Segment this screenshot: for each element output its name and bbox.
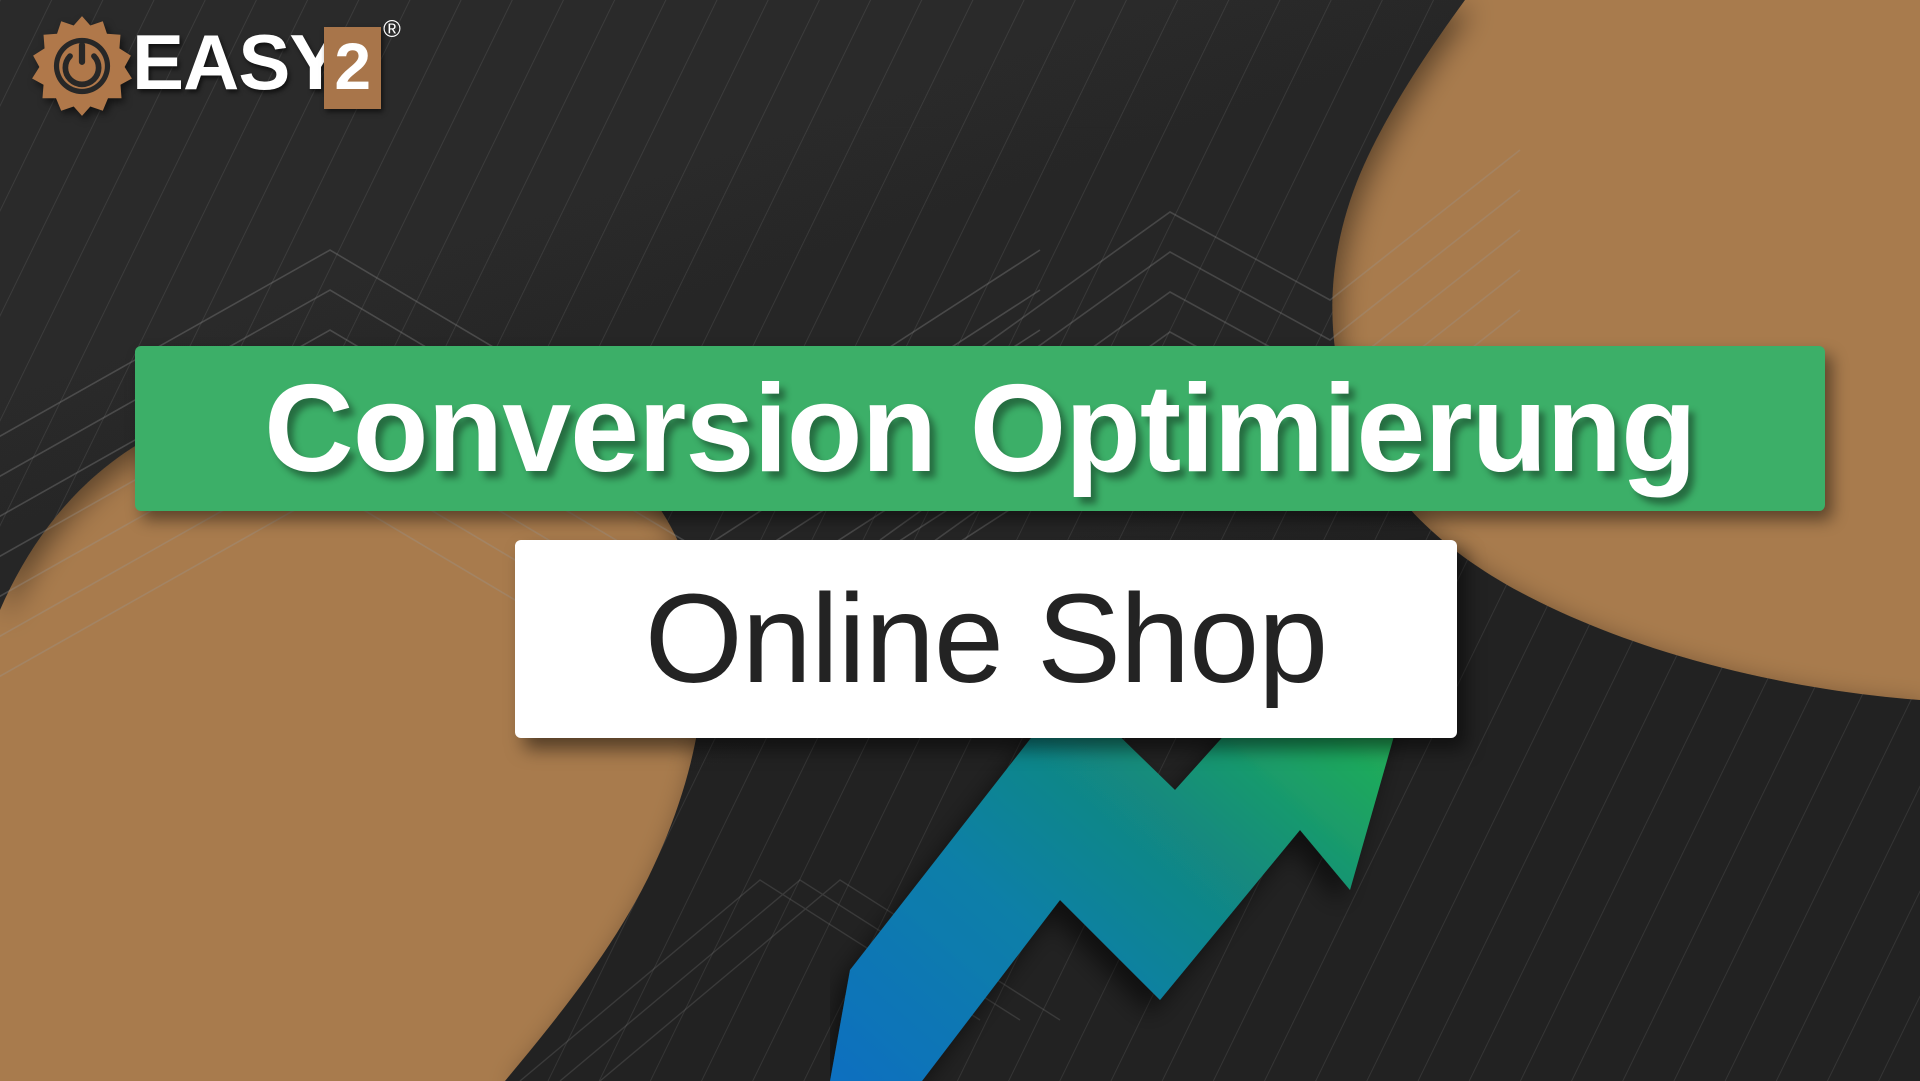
headline-secondary-text: Online Shop xyxy=(645,576,1328,702)
gear-power-icon xyxy=(30,14,134,118)
brand-logo[interactable]: EASY 2 ® xyxy=(30,20,399,112)
headline-green-banner: Conversion Optimierung xyxy=(135,346,1825,511)
logo-wordmark: EASY 2 ® xyxy=(132,23,399,109)
headline-primary-text: Conversion Optimierung xyxy=(264,367,1696,491)
logo-text-two: 2 xyxy=(324,27,381,109)
registered-trademark-icon: ® xyxy=(383,16,401,44)
slide-canvas: EASY 2 ® C xyxy=(0,0,1920,1081)
headline-white-banner: Online Shop xyxy=(515,540,1457,738)
logo-text-easy: EASY xyxy=(132,23,340,101)
